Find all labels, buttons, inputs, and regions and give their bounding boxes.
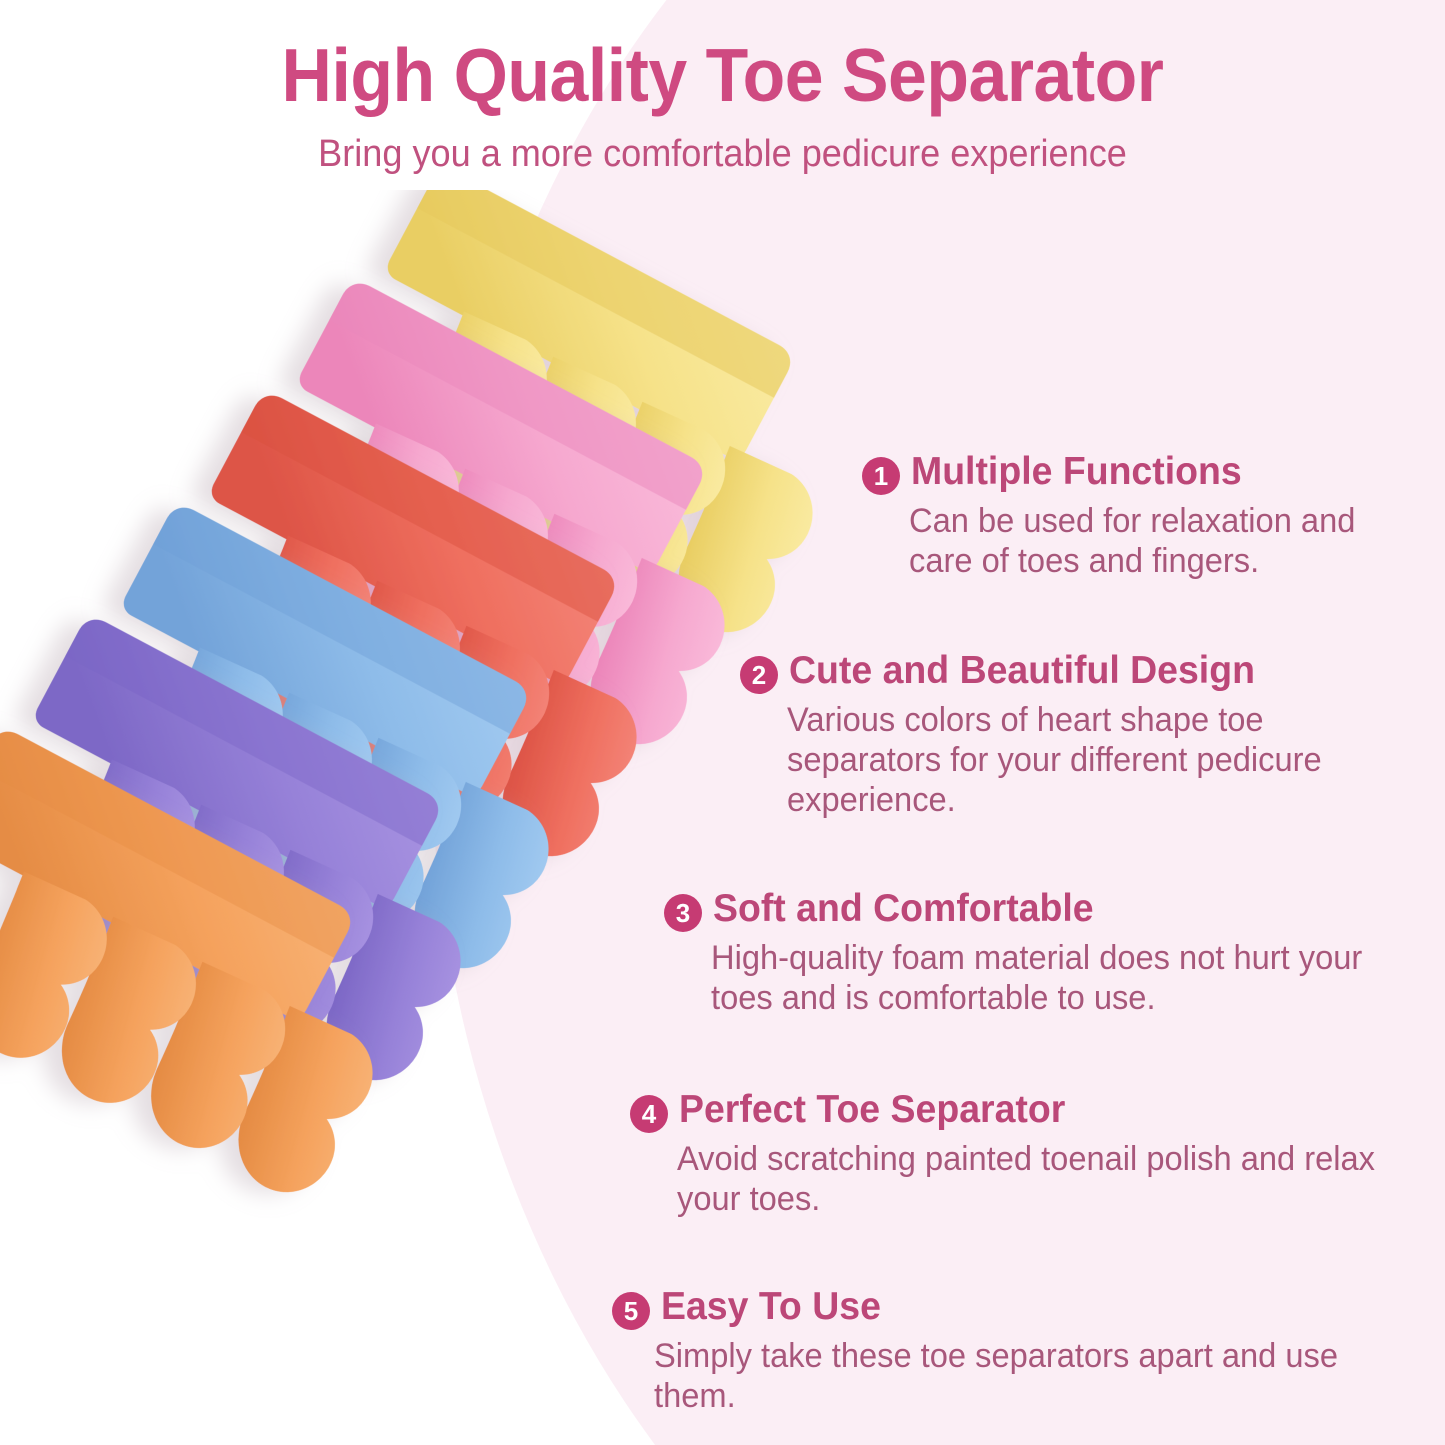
page-subtitle: Bring you a more comfortable pedicure ex… [36,113,1409,173]
feature-title: Perfect Toe Separator [679,1090,1065,1131]
feature-heading: 1 Multiple Functions [862,452,1445,495]
feature-number-badge: 4 [630,1095,668,1133]
feature-description: Can be used for relaxation and care of t… [909,501,1425,581]
feature-title: Cute and Beautiful Design [789,651,1255,692]
feature-item: 4 Perfect Toe Separator Avoid scratching… [630,1090,1445,1219]
feature-item: 2 Cute and Beautiful Design Various colo… [740,651,1445,820]
feature-heading: 3 Soft and Comfortable [664,889,1445,932]
feature-description: Avoid scratching painted toenail polish … [677,1139,1416,1219]
feature-description: Simply take these toe separators apart a… [654,1336,1415,1416]
feature-heading: 5 Easy To Use [612,1287,1445,1330]
feature-number-badge: 3 [664,894,702,932]
feature-number-badge: 1 [862,457,900,495]
feature-title: Soft and Comfortable [713,889,1094,930]
feature-heading: 4 Perfect Toe Separator [630,1090,1445,1133]
feature-title: Multiple Functions [911,452,1242,493]
feature-item: 5 Easy To Use Simply take these toe sepa… [612,1287,1445,1416]
header: High Quality Toe Separator Bring you a m… [0,0,1445,173]
feature-heading: 2 Cute and Beautiful Design [740,651,1445,694]
feature-number-badge: 5 [612,1292,650,1330]
page-title: High Quality Toe Separator [51,0,1395,113]
feature-description: High-quality foam material does not hurt… [711,938,1418,1018]
feature-list: 1 Multiple Functions Can be used for rel… [612,452,1445,1445]
feature-description: Various colors of heart shape toe separa… [787,700,1421,820]
feature-item: 1 Multiple Functions Can be used for rel… [862,452,1445,581]
infographic-canvas: High Quality Toe Separator Bring you a m… [0,0,1445,1445]
feature-title: Easy To Use [661,1287,881,1328]
feature-item: 3 Soft and Comfortable High-quality foam… [664,889,1445,1018]
feature-number-badge: 2 [740,656,778,694]
